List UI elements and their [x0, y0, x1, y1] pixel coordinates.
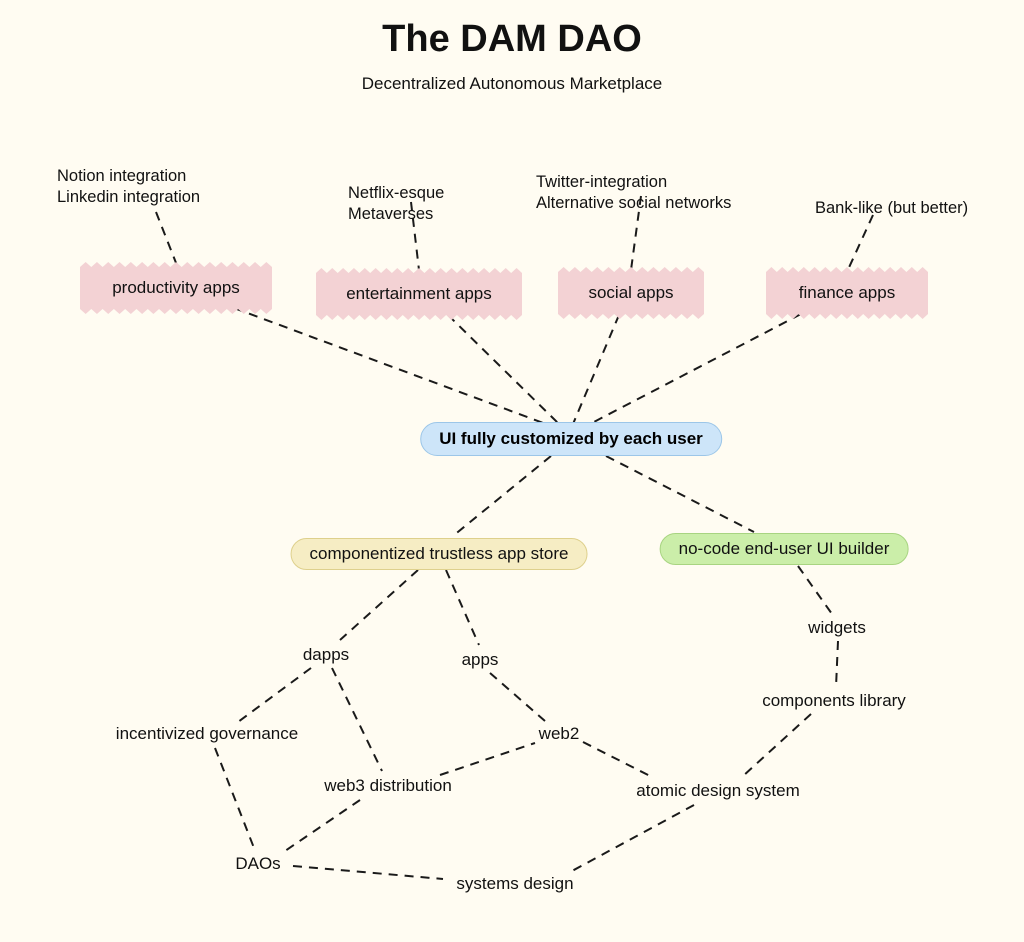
node-widgets[interactable]: widgets: [808, 618, 866, 638]
diagram-canvas: The DAM DAO Decentralized Autonomous Mar…: [0, 0, 1024, 942]
annotation-line: Alternative social networks: [536, 193, 731, 214]
annotation-line: Twitter-integration: [536, 172, 731, 193]
node-label: finance apps: [799, 283, 895, 303]
node-web2[interactable]: web2: [539, 724, 580, 744]
annotation-line: Bank-like (but better): [815, 198, 968, 219]
node-ui-customized[interactable]: UI fully customized by each user: [420, 422, 722, 456]
node-apps[interactable]: apps: [462, 650, 499, 670]
annotation-line: Metaverses: [348, 204, 444, 225]
node-entertainment-apps[interactable]: entertainment apps: [316, 268, 522, 320]
node-productivity-apps[interactable]: productivity apps: [80, 262, 272, 314]
node-social-apps[interactable]: social apps: [558, 267, 704, 319]
node-label: entertainment apps: [346, 284, 492, 304]
node-incentivized-governance[interactable]: incentivized governance: [116, 724, 298, 744]
node-dapps[interactable]: dapps: [303, 645, 349, 665]
node-web3-distribution[interactable]: web3 distribution: [324, 776, 452, 796]
annotation-line: Netflix-esque: [348, 183, 444, 204]
node-label: no-code end-user UI builder: [679, 539, 890, 559]
annotation-entertainment: Netflix-esqueMetaverses: [348, 183, 444, 225]
node-app-store[interactable]: componentized trustless app store: [291, 538, 588, 570]
node-label: social apps: [588, 283, 673, 303]
annotation-social: Twitter-integrationAlternative social ne…: [536, 172, 731, 214]
node-label: UI fully customized by each user: [439, 429, 703, 449]
node-label: productivity apps: [112, 278, 240, 298]
node-layer: Notion integrationLinkedin integrationNe…: [0, 0, 1024, 942]
node-atomic-design-system[interactable]: atomic design system: [636, 781, 799, 801]
node-label: componentized trustless app store: [310, 544, 569, 564]
annotation-line: Notion integration: [57, 166, 200, 187]
annotation-finance: Bank-like (but better): [815, 198, 968, 219]
node-daos[interactable]: DAOs: [235, 854, 280, 874]
annotation-productivity: Notion integrationLinkedin integration: [57, 166, 200, 208]
annotation-line: Linkedin integration: [57, 187, 200, 208]
node-components-library[interactable]: components library: [762, 691, 906, 711]
node-ui-builder[interactable]: no-code end-user UI builder: [660, 533, 909, 565]
node-finance-apps[interactable]: finance apps: [766, 267, 928, 319]
node-systems-design[interactable]: systems design: [456, 874, 573, 894]
